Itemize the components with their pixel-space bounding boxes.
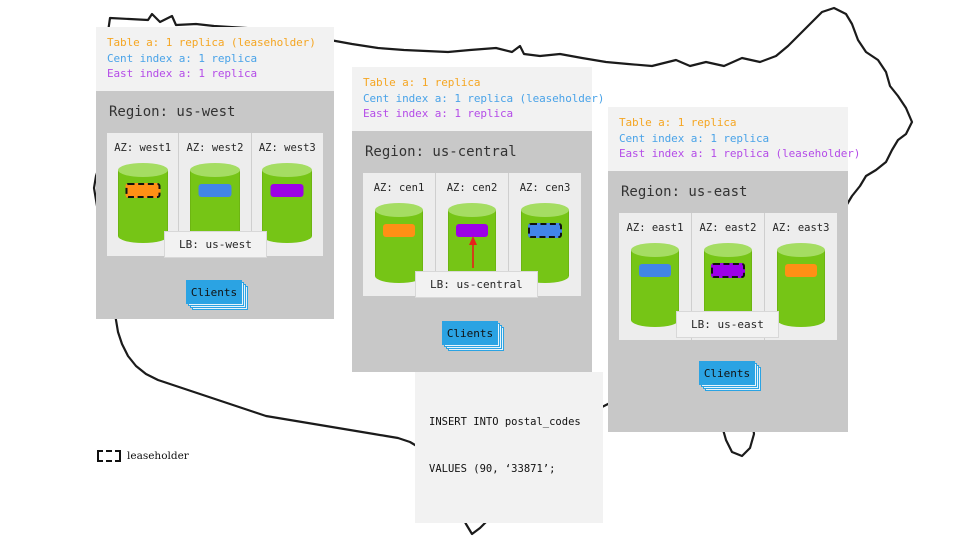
- cylinder-top: [777, 243, 825, 257]
- cylinder-top: [375, 203, 423, 217]
- az-label: AZ: cen3: [520, 182, 571, 194]
- cylinder-top: [262, 163, 312, 177]
- replica-chip-table: [785, 264, 817, 277]
- az-label: AZ: east1: [627, 222, 684, 234]
- replica-line-table: Table a: 1 replica: [363, 75, 581, 91]
- region-title: Region: us-west: [107, 91, 323, 133]
- replica-line-east: East index a: 1 replica: [363, 106, 581, 122]
- replica-line-east: East index a: 1 replica: [107, 66, 323, 82]
- replica-line-cent: Cent index a: 1 replica: [107, 51, 323, 67]
- node-cylinder-west3: [262, 163, 312, 243]
- cylinder-top: [118, 163, 168, 177]
- replica-chip-cent-index-leaseholder: [528, 223, 562, 238]
- region-body-us-east: Region: us-east AZ: east1 AZ: east2: [608, 171, 848, 432]
- load-balancer-us-east[interactable]: LB: us-east: [676, 311, 779, 338]
- sql-line-1: INSERT INTO postal_codes: [429, 415, 589, 431]
- replica-chip-east-index: [271, 184, 304, 197]
- write-arrow-to-cen2: [465, 236, 481, 268]
- cylinder-body: [521, 210, 569, 276]
- clients-stack-us-west[interactable]: Clients: [186, 280, 246, 306]
- replica-chip-cent-index: [639, 264, 671, 277]
- clients-stack-us-central[interactable]: Clients: [442, 321, 502, 347]
- replica-line-table: Table a: 1 replica (leaseholder): [107, 35, 323, 51]
- load-balancer-us-west[interactable]: LB: us-west: [164, 231, 267, 258]
- replica-chip-east-index: [456, 224, 488, 237]
- legend-label: leaseholder: [127, 450, 189, 462]
- replica-chip-table: [383, 224, 415, 237]
- diagram-canvas: Table a: 1 replica (leaseholder) Cent in…: [0, 0, 960, 540]
- cylinder-body: [777, 250, 825, 320]
- az-label: AZ: west2: [187, 142, 244, 154]
- cylinder-top: [631, 243, 679, 257]
- az-label: AZ: cen1: [374, 182, 425, 194]
- cylinder-top: [521, 203, 569, 217]
- arrow-head: [469, 236, 477, 245]
- replica-chip-table-leaseholder: [125, 183, 160, 198]
- clients-label: Clients: [699, 361, 755, 385]
- az-label: AZ: west1: [114, 142, 171, 154]
- replica-line-cent: Cent index a: 1 replica: [619, 131, 837, 147]
- replica-chip-east-index-leaseholder: [711, 263, 745, 278]
- az-label: AZ: east2: [700, 222, 757, 234]
- node-cylinder-west1: [118, 163, 168, 243]
- clients-stack-us-east[interactable]: Clients: [699, 361, 759, 387]
- az-label: AZ: east3: [773, 222, 830, 234]
- cylinder-top: [704, 243, 752, 257]
- cylinder-body: [375, 210, 423, 276]
- cylinder-body: [631, 250, 679, 320]
- sql-statement-note: INSERT INTO postal_codes VALUES (90, ‘33…: [415, 372, 603, 523]
- region-panel-us-west: Table a: 1 replica (leaseholder) Cent in…: [96, 27, 334, 319]
- cylinder-top: [190, 163, 240, 177]
- region-title: Region: us-east: [619, 171, 837, 213]
- replica-summary-us-west: Table a: 1 replica (leaseholder) Cent in…: [96, 27, 334, 91]
- node-cylinder-east1: [631, 243, 679, 327]
- replica-summary-us-east: Table a: 1 replica Cent index a: 1 repli…: [608, 107, 848, 171]
- cylinder-body: [118, 170, 168, 236]
- legend-leaseholder: leaseholder: [97, 450, 189, 462]
- clients-label: Clients: [442, 321, 498, 345]
- cylinder-body: [190, 170, 240, 236]
- clients-label: Clients: [186, 280, 242, 304]
- region-title: Region: us-central: [363, 131, 581, 173]
- replica-line-table: Table a: 1 replica: [619, 115, 837, 131]
- load-balancer-us-central[interactable]: LB: us-central: [415, 271, 538, 298]
- replica-summary-us-central: Table a: 1 replica Cent index a: 1 repli…: [352, 67, 592, 131]
- replica-line-cent: Cent index a: 1 replica (leaseholder): [363, 91, 581, 107]
- cylinder-top: [448, 203, 496, 217]
- leaseholder-swatch-icon: [97, 450, 121, 462]
- cylinder-body: [704, 250, 752, 320]
- az-label: AZ: west3: [259, 142, 316, 154]
- node-cylinder-east3: [777, 243, 825, 327]
- sql-line-2: VALUES (90, ‘33871’;: [429, 462, 589, 478]
- replica-line-east: East index a: 1 replica (leaseholder): [619, 146, 837, 162]
- replica-chip-cent-index: [198, 184, 231, 197]
- cylinder-body: [262, 170, 312, 236]
- az-label: AZ: cen2: [447, 182, 498, 194]
